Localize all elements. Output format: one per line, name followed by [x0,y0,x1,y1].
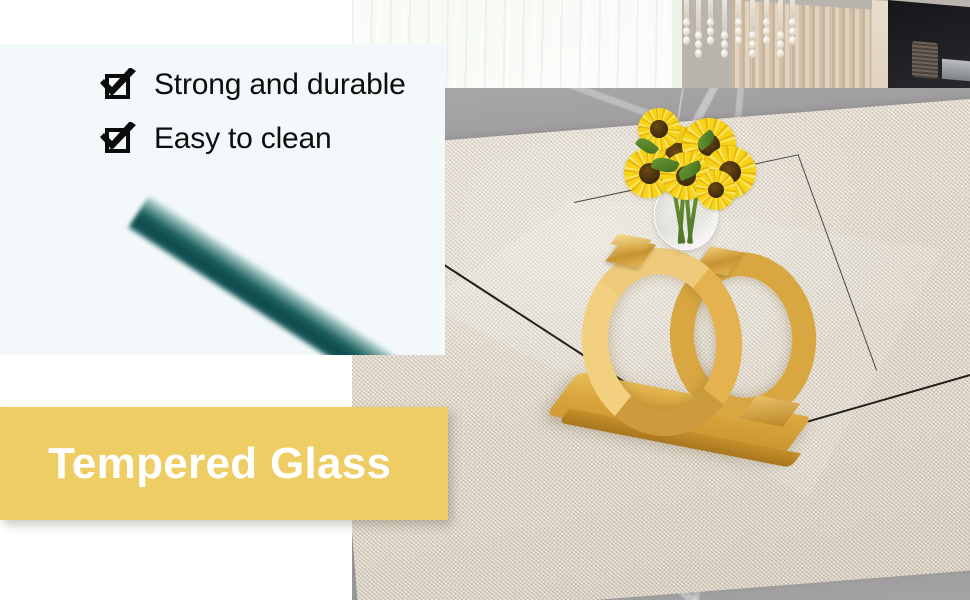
checked-box-icon [104,70,134,100]
crystal-bead-chandelier-icon [682,0,802,54]
checked-box-icon [104,124,134,154]
list-item-label: Strong and durable [154,70,406,100]
feature-list: Strong and durable Easy to clean [104,58,434,166]
list-item: Easy to clean [104,112,434,166]
product-feature-banner: Strong and durable Easy to clean Tempere… [0,0,970,600]
tempered-glass-banner: Tempered Glass [0,407,448,520]
feature-checklist-card: Strong and durable Easy to clean [0,44,445,355]
list-item: Strong and durable [104,58,434,112]
tempered-glass-edge-band [127,194,445,355]
banner-label: Tempered Glass [48,439,391,489]
niche-object-vase [912,41,938,79]
list-item-label: Easy to clean [154,124,332,154]
niche-object-box [942,59,970,81]
